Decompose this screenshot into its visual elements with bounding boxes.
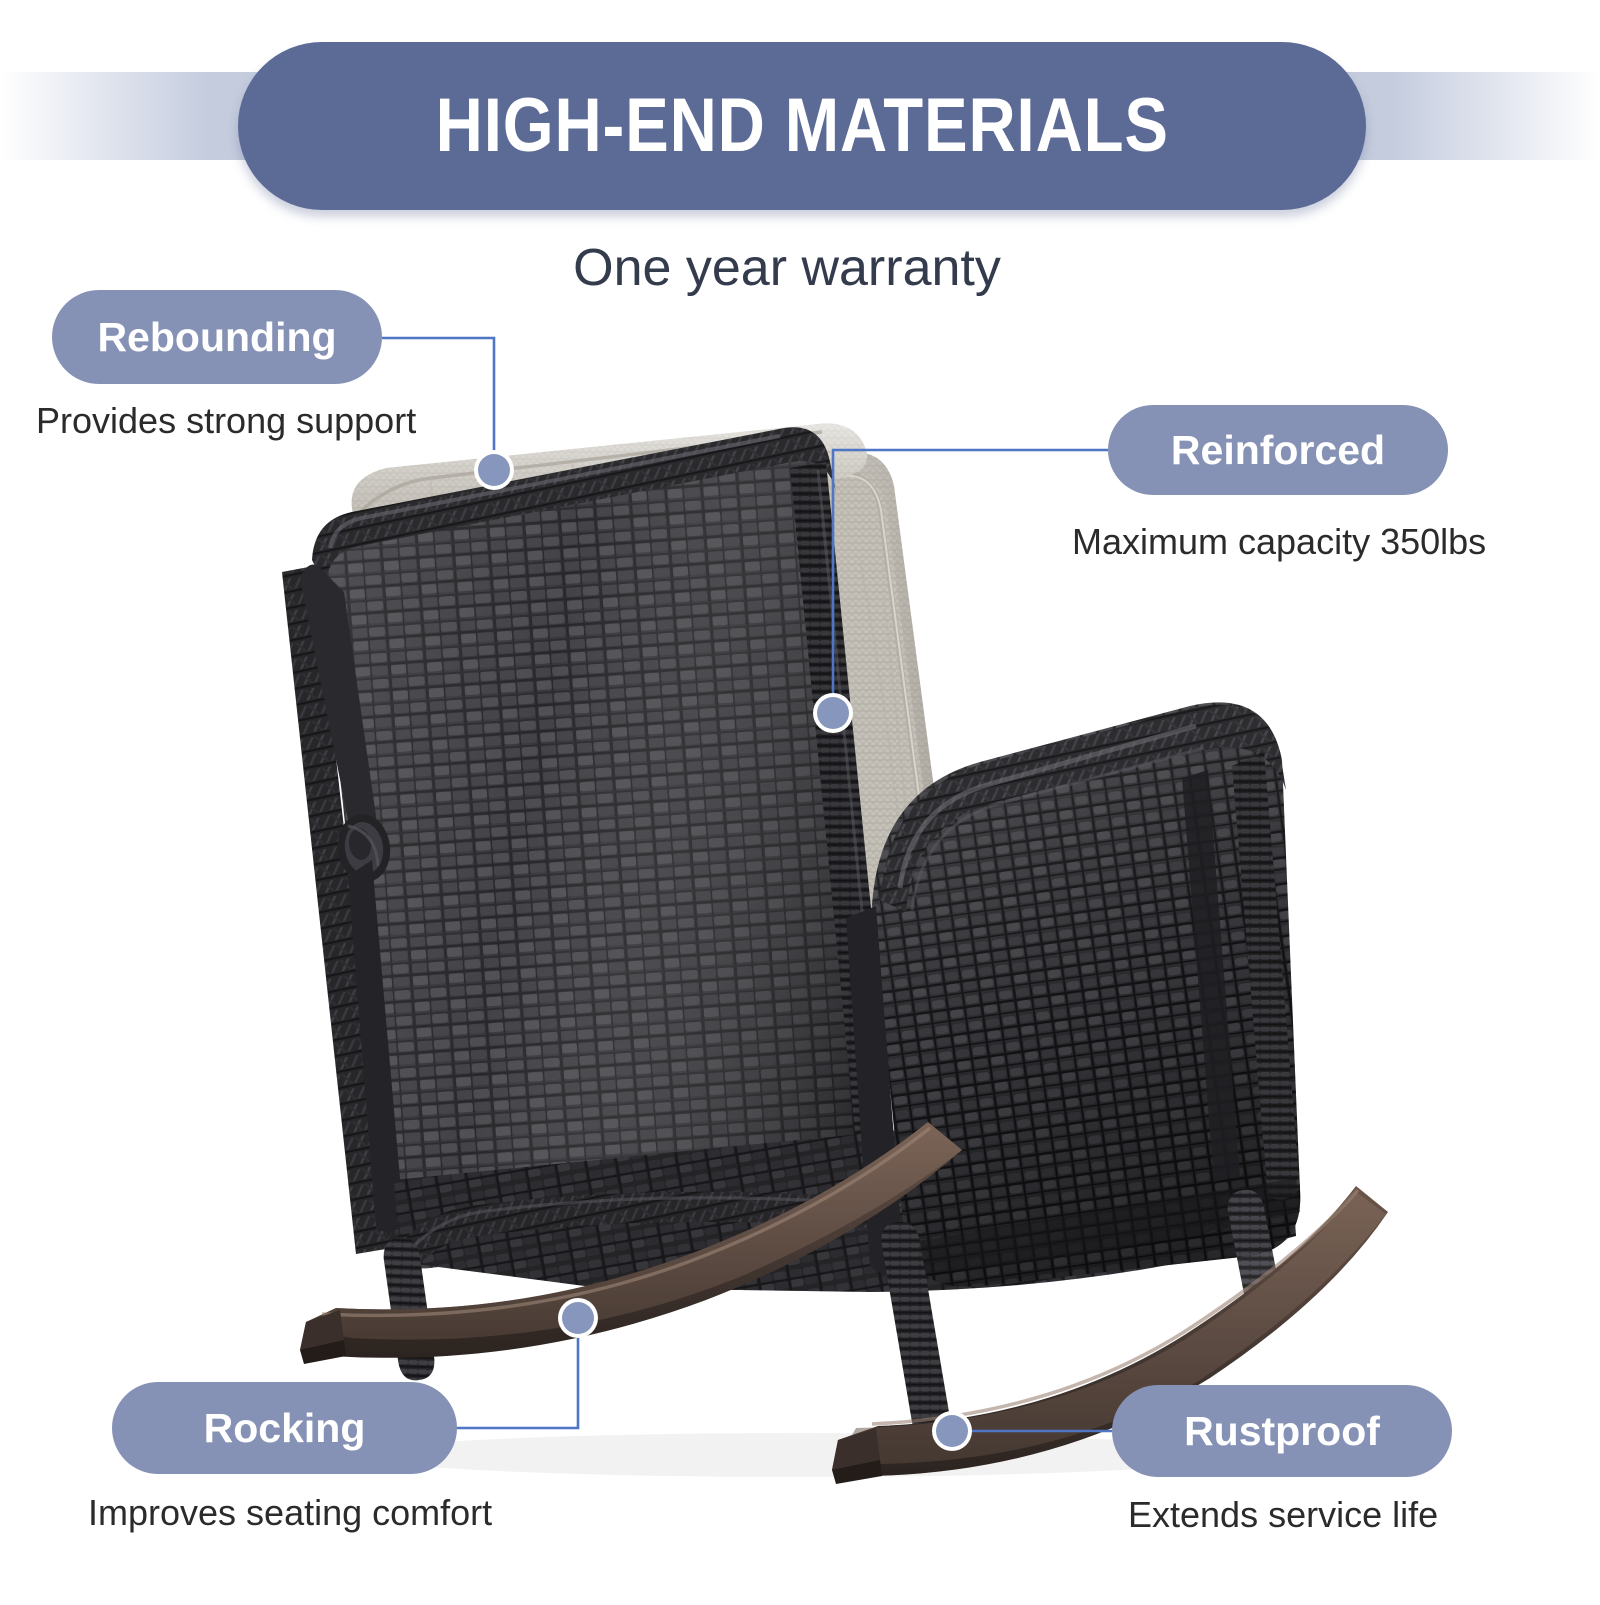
callout-caption-rustproof: Extends service life bbox=[1128, 1494, 1438, 1536]
callout-caption-reinforced: Maximum capacity 350lbs bbox=[1072, 521, 1486, 563]
callout-pill-reinforced: Reinforced bbox=[1108, 405, 1448, 495]
callout-caption-rebounding: Provides strong support bbox=[36, 400, 416, 442]
callout-pill-rebounding: Rebounding bbox=[52, 290, 382, 384]
floor-shadow bbox=[360, 1433, 1240, 1477]
callout-caption-rocking: Improves seating comfort bbox=[88, 1492, 492, 1534]
callout-pill-rocking: Rocking bbox=[112, 1382, 457, 1474]
callout-pill-rustproof: Rustproof bbox=[1112, 1385, 1452, 1477]
chair-illustration bbox=[0, 0, 1600, 1600]
product-image-wicker-rocking-chair bbox=[0, 0, 1600, 1600]
